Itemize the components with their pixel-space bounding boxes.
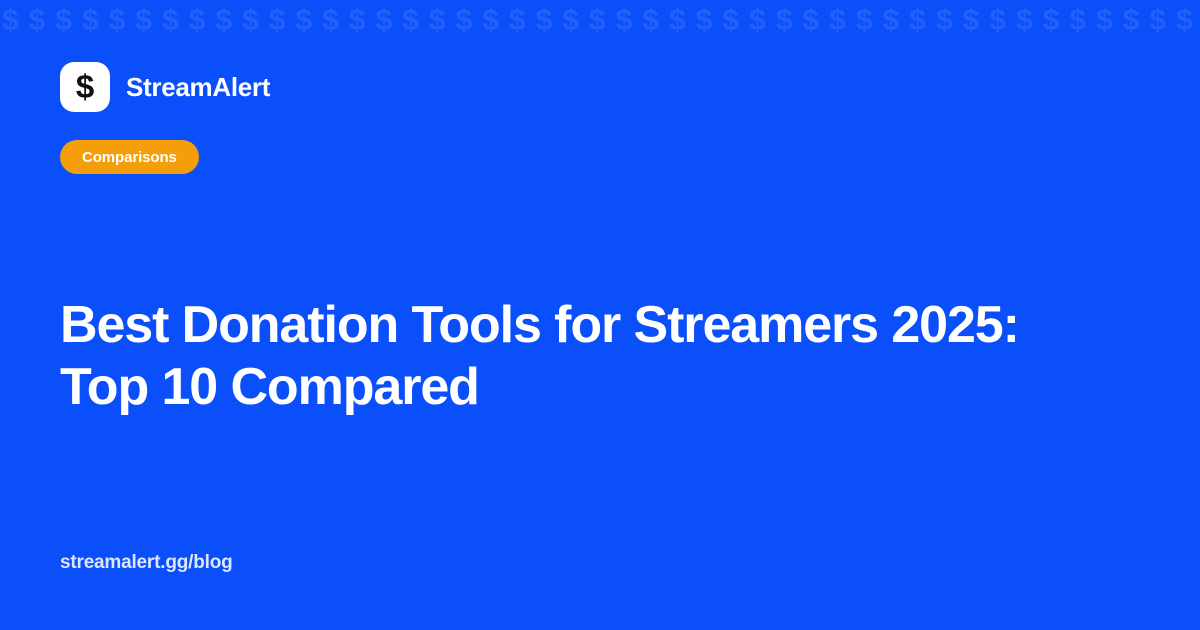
og-card: $$$$$$$$$$$$$$$$$$$$$$$$$$$$$$$$$$$$$$$$… (0, 0, 1200, 630)
page-title: Best Donation Tools for Streamers 2025: … (60, 294, 1120, 418)
dollar-sign-icon: $ (76, 70, 94, 103)
card-content: $ StreamAlert Comparisons Best Donation … (0, 0, 1200, 630)
card-footer: streamalert.gg/blog (60, 552, 1140, 574)
brand-lockup: $ StreamAlert (60, 62, 1140, 112)
brand-name: StreamAlert (126, 72, 270, 103)
brand-logo-mark: $ (60, 62, 110, 112)
headline-container: Best Donation Tools for Streamers 2025: … (60, 160, 1140, 552)
site-url[interactable]: streamalert.gg/blog (60, 552, 233, 573)
